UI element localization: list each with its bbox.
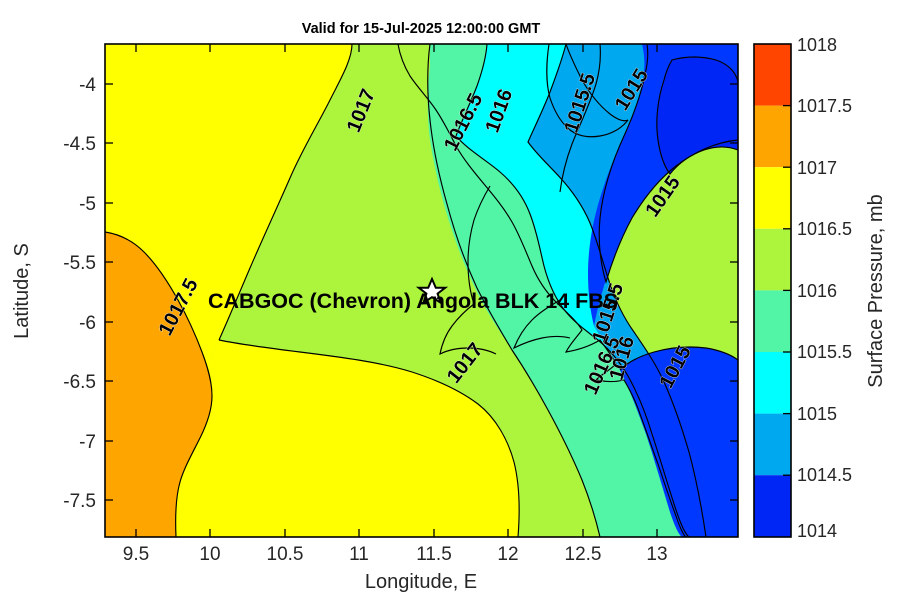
y-tick-3: -5.5 <box>63 253 96 274</box>
x-tick-6: 12.5 <box>565 544 602 565</box>
cb-band-1017p5-1018 <box>754 44 791 106</box>
x-tick-2: 10.5 <box>267 544 304 565</box>
y-tick-5: -6.5 <box>63 372 96 393</box>
y-tick-7: -7.5 <box>63 491 96 512</box>
x-tick-4: 11.5 <box>416 544 452 565</box>
cb-band-1014-1014p5 <box>754 475 791 537</box>
cb-tick-4: 1016 <box>797 281 837 301</box>
y-tick-6: -7 <box>79 432 96 453</box>
cb-band-1016p5-1017 <box>754 167 791 229</box>
cb-tick-6: 1015 <box>797 404 837 424</box>
pressure-contour-figure: Valid for 15-Jul-2025 12:00:00 GMT <box>0 0 900 600</box>
cb-band-1015p5-1016 <box>754 290 791 352</box>
x-tick-7: 13 <box>646 544 667 565</box>
cb-band-1015-1015p5 <box>754 352 791 414</box>
x-tick-5: 12 <box>497 544 518 565</box>
cb-tick-5: 1015.5 <box>797 342 852 362</box>
y-tick-2: -5 <box>79 194 96 215</box>
cb-tick-2: 1017 <box>797 158 837 178</box>
cb-tick-1: 1017.5 <box>797 96 852 116</box>
x-axis-label: Longitude, E <box>365 571 477 593</box>
y-axis-label: Latitude, S <box>11 243 33 339</box>
cb-band-1014p5-1015 <box>754 414 791 476</box>
cb-band-1016-1016p5 <box>754 229 791 291</box>
station-label: CABGOC (Chevron) Angola BLK 14 FBS <box>208 289 618 313</box>
cb-tick-7: 1014.5 <box>797 465 852 485</box>
cb-tick-8: 1014 <box>797 521 837 541</box>
cb-tick-3: 1016.5 <box>797 219 852 239</box>
colorbar-label: Surface Pressure, mb <box>865 194 887 387</box>
x-tick-3: 11 <box>349 544 369 565</box>
y-tick-0: -4 <box>79 75 96 96</box>
cb-band-1017-1017p5 <box>754 106 791 168</box>
y-tick-1: -4.5 <box>63 134 96 155</box>
x-tick-1: 10 <box>199 544 220 565</box>
figure-title: Valid for 15-Jul-2025 12:00:00 GMT <box>302 21 541 37</box>
y-tick-4: -6 <box>79 313 96 334</box>
cb-tick-0: 1018 <box>797 35 837 55</box>
x-tick-0: 9.5 <box>123 544 149 565</box>
